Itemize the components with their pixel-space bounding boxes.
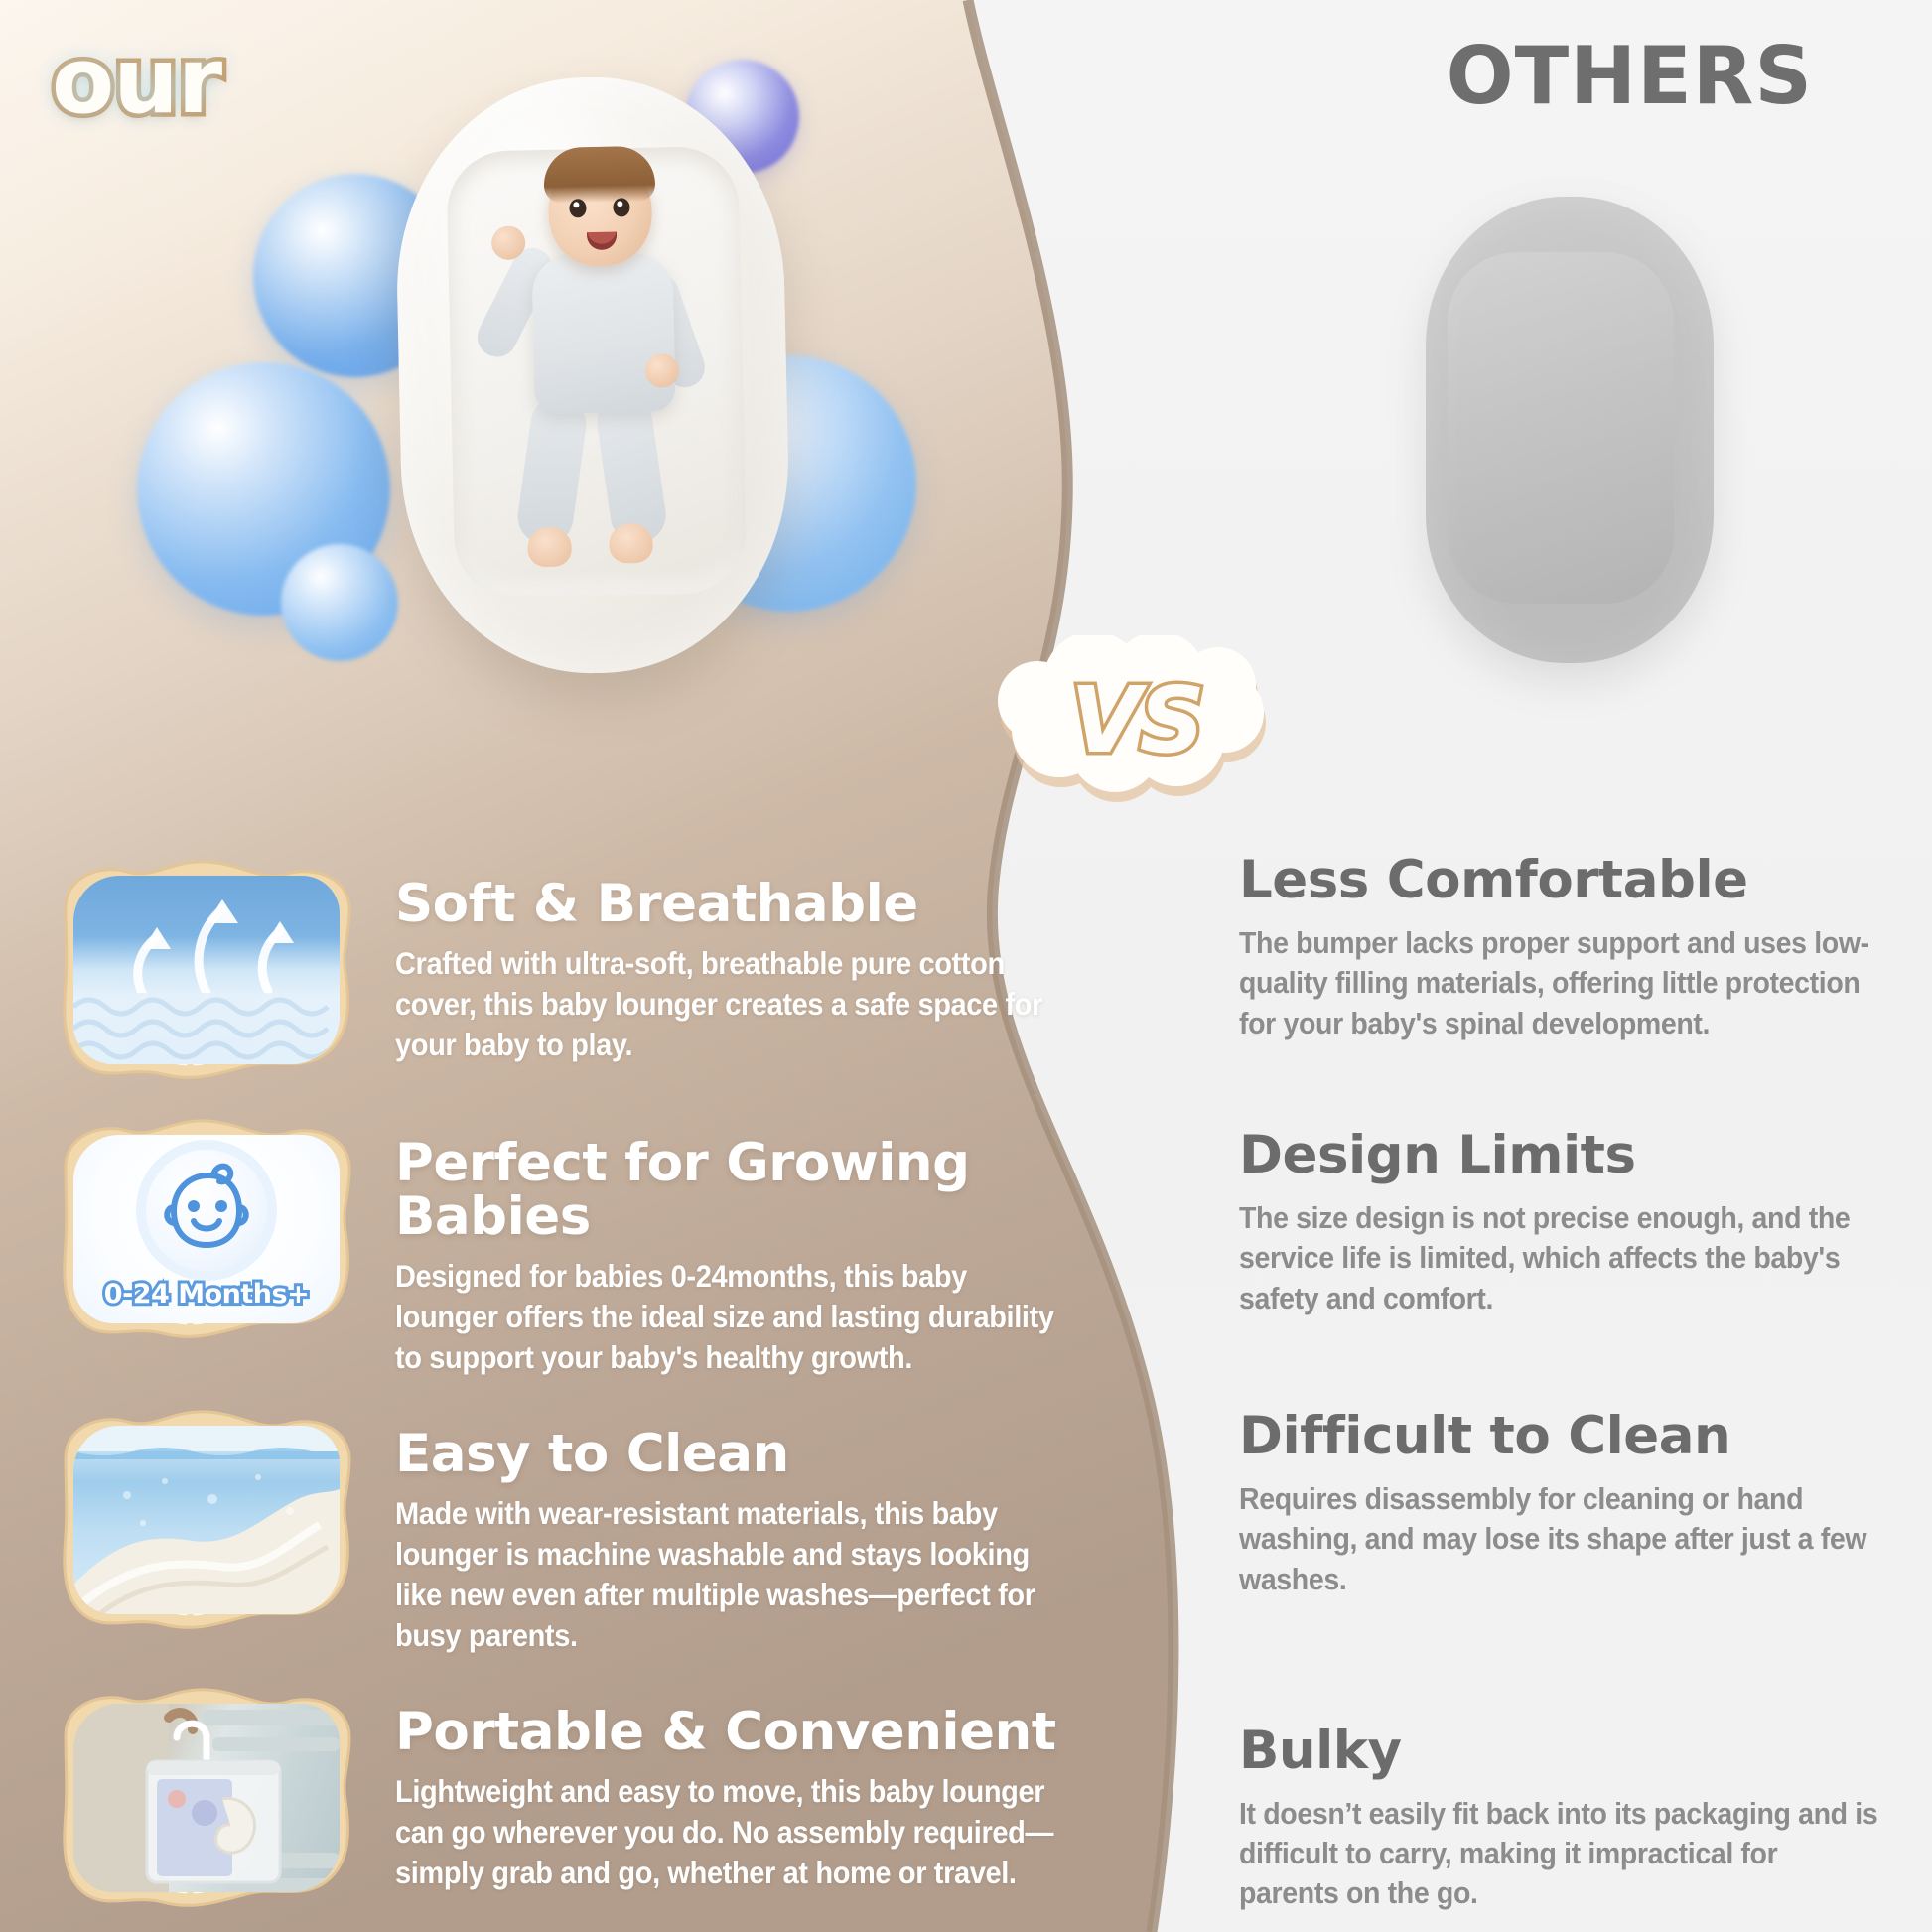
infographic-canvas: our OTHERS xyxy=(0,0,1932,1932)
others-row: Less Comfortable The bumper lacks proper… xyxy=(1239,854,1932,1043)
our-features-list: Soft & Breathable Crafted with ultra-sof… xyxy=(0,854,1152,1932)
baby-leg-left xyxy=(514,393,590,548)
others-body: Requires disassembly for cleaning or han… xyxy=(1239,1479,1878,1599)
others-row: Bulky It doesn’t easily fit back into it… xyxy=(1239,1725,1932,1914)
bubble-blue-bottom xyxy=(281,544,398,661)
others-title: Design Limits xyxy=(1239,1129,1932,1182)
months-badge-card: 0-24 Months+ xyxy=(73,1135,340,1323)
feature-title: Soft & Breathable xyxy=(395,878,1130,931)
vs-label: VS xyxy=(998,635,1276,804)
baby-foot-left xyxy=(527,526,572,567)
fabric-in-water-image xyxy=(73,1426,340,1614)
feature-text-block: Soft & Breathable Crafted with ultra-sof… xyxy=(395,854,1130,1065)
others-body: The size design is not precise enough, a… xyxy=(1239,1198,1878,1318)
hero-illustration xyxy=(0,0,1112,715)
baby-foot-right xyxy=(609,523,653,564)
feature-body: Designed for babies 0-24months, this bab… xyxy=(395,1256,1071,1378)
fabric-in-water-thumbnail xyxy=(48,1404,365,1637)
months-badge-label: 0-24 Months+ xyxy=(104,1279,309,1310)
breathable-fabric-image xyxy=(73,876,340,1064)
feature-row: Easy to Clean Made with wear-resistant m… xyxy=(0,1404,1152,1656)
others-title: Difficult to Clean xyxy=(1239,1410,1932,1463)
feature-body: Crafted with ultra-soft, breathable pure… xyxy=(395,943,1071,1065)
feature-row: Soft & Breathable Crafted with ultra-sof… xyxy=(0,854,1152,1087)
baby-hair xyxy=(543,146,655,204)
others-features-list: Less Comfortable The bumper lacks proper… xyxy=(1239,854,1932,1932)
travel-bag-image xyxy=(73,1704,340,1892)
others-title: Less Comfortable xyxy=(1239,854,1932,907)
feature-body: Lightweight and easy to move, this baby … xyxy=(395,1771,1071,1893)
feature-row: 0-24 Months+ Perfect for Growing Babies … xyxy=(0,1113,1152,1378)
others-body: The bumper lacks proper support and uses… xyxy=(1239,923,1878,1043)
our-lounger-product xyxy=(393,73,792,677)
others-row: Difficult to Clean Requires disassembly … xyxy=(1239,1410,1932,1599)
baby-face-icon xyxy=(146,1150,267,1271)
feature-text-block: Perfect for Growing Babies Designed for … xyxy=(395,1113,1130,1378)
baby-bodysuit xyxy=(531,252,675,414)
others-body: It doesn’t easily fit back into its pack… xyxy=(1239,1794,1878,1914)
others-title: Bulky xyxy=(1239,1725,1932,1778)
feature-row: Portable & Convenient Lightweight and ea… xyxy=(0,1682,1152,1915)
others-row: Design Limits The size design is not pre… xyxy=(1239,1129,1932,1318)
others-label: OTHERS xyxy=(1447,30,1813,122)
breathable-fabric-thumbnail xyxy=(48,854,365,1087)
feature-body: Made with wear-resistant materials, this… xyxy=(395,1493,1071,1656)
feature-title: Perfect for Growing Babies xyxy=(395,1137,1130,1244)
feature-text-block: Easy to Clean Made with wear-resistant m… xyxy=(395,1404,1130,1656)
travel-bag-thumbnail xyxy=(48,1682,365,1915)
feature-title: Easy to Clean xyxy=(395,1428,1130,1481)
baby-figure xyxy=(474,144,720,546)
feature-text-block: Portable & Convenient Lightweight and ea… xyxy=(395,1682,1130,1893)
feature-title: Portable & Convenient xyxy=(395,1706,1130,1759)
baby-face-months-badge: 0-24 Months+ xyxy=(48,1113,365,1346)
competitor-lounger-product xyxy=(1426,197,1714,663)
vs-badge: VS xyxy=(998,635,1276,804)
